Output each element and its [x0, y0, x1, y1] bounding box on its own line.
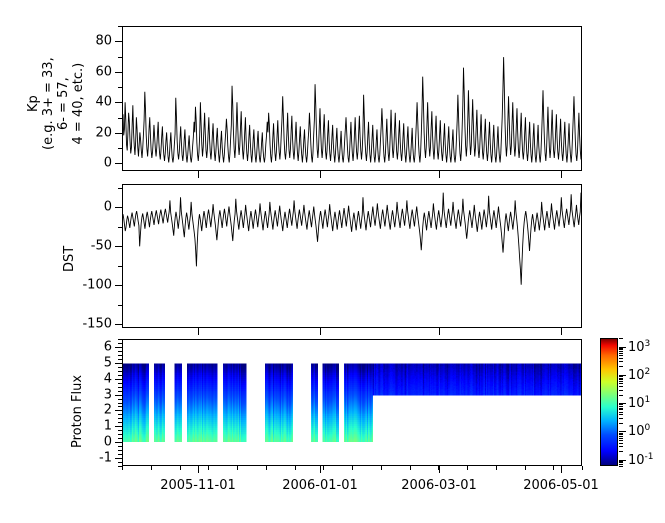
kp-title-line-1: (e.g. 3+ = 33, [41, 57, 56, 150]
spectrogram-cell [180, 440, 182, 443]
spectrogram-cell [163, 440, 165, 443]
y-major-tick [115, 163, 122, 164]
y-major-tick [115, 102, 122, 103]
y-major-tick [115, 324, 122, 325]
y-major-tick [115, 246, 122, 247]
data-line [123, 57, 581, 162]
y-minor-tick [118, 26, 122, 27]
kp-title-line-0: Kp [26, 57, 41, 150]
proton-flux-panel [122, 339, 582, 466]
spectrogram-cell [291, 440, 293, 443]
kp-plot-panel [122, 26, 582, 171]
y-minor-tick [118, 148, 122, 149]
figure-canvas: 020406080 Kp (e.g. 3+ = 33, 6- = 57, 4 =… [0, 0, 665, 523]
y-minor-tick [118, 87, 122, 88]
y-minor-tick [118, 266, 122, 267]
y-minor-tick [118, 227, 122, 228]
y-major-tick [115, 133, 122, 134]
y-tick-label: 0 [58, 156, 112, 171]
y-major-tick [115, 41, 122, 42]
kp-title-line-3: 4 = 40, etc.) [71, 57, 86, 150]
y-tick-label: -150 [58, 317, 112, 332]
dst-axis-title: DST [62, 246, 77, 272]
spectrogram-cell [147, 440, 149, 443]
y-tick-label: 80 [58, 34, 112, 49]
y-tick-label: 0 [58, 200, 112, 215]
y-tick-label: -100 [58, 278, 112, 293]
spectrogram-cell [245, 440, 247, 443]
y-major-tick [115, 72, 122, 73]
kp-axis-title: Kp (e.g. 3+ = 33, 6- = 57, 4 = 40, etc.) [26, 57, 86, 150]
y-major-tick [115, 207, 122, 208]
spectrogram-cell [316, 440, 318, 443]
y-minor-tick [118, 118, 122, 119]
kp-title-line-2: 6- = 57, [56, 57, 71, 150]
dst-plot-panel [122, 184, 582, 328]
y-major-tick [115, 285, 122, 286]
y-minor-tick [118, 188, 122, 189]
proton-flux-spectrogram [123, 340, 581, 465]
kp-series-plot [123, 27, 581, 170]
data-line [123, 193, 581, 285]
y-minor-tick [118, 305, 122, 306]
y-minor-tick [118, 57, 122, 58]
dst-series-plot [123, 185, 581, 327]
spectrogram-cell [216, 440, 218, 443]
